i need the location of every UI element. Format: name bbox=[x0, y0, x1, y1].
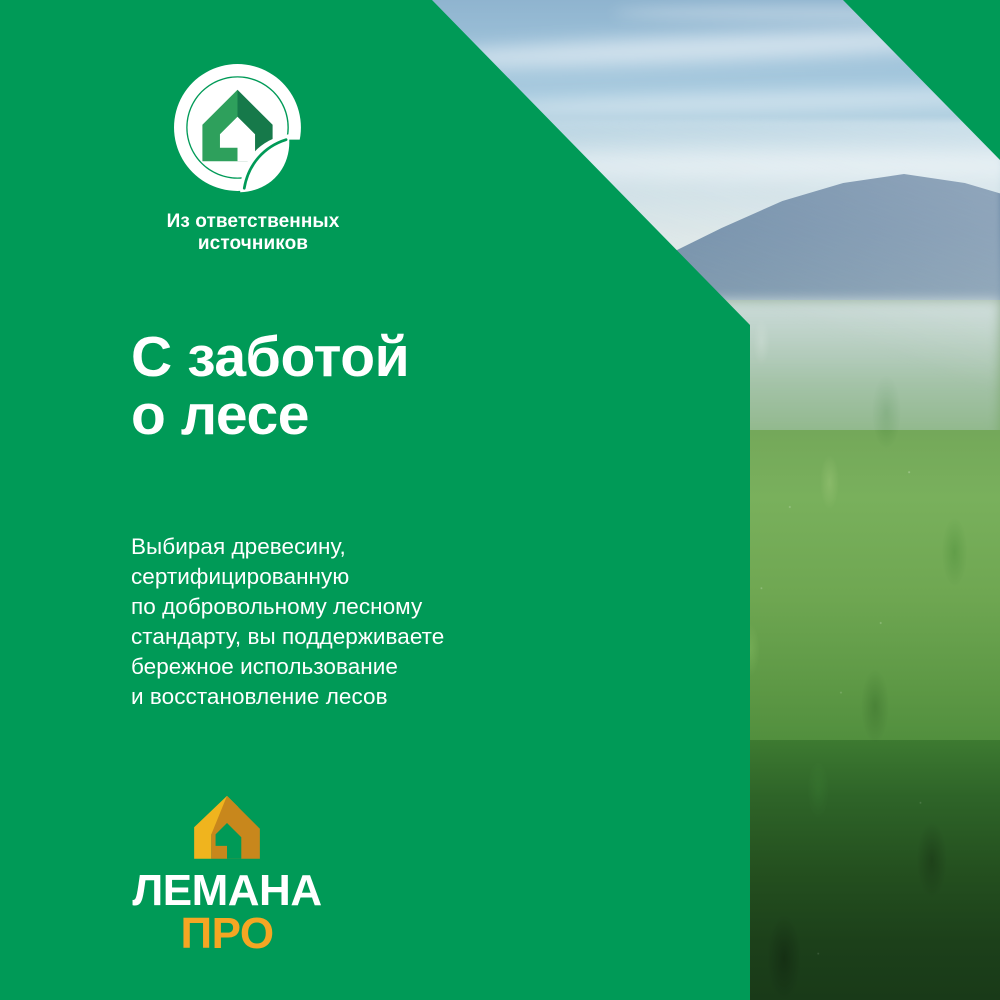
brand-subname: ПРО bbox=[132, 912, 322, 956]
certification-block: Из ответственных источников bbox=[128, 60, 458, 255]
house-roof-icon bbox=[191, 793, 263, 863]
poster-canvas: Из ответственных источников С заботой о … bbox=[0, 0, 1000, 1000]
house-with-leaf-emblem bbox=[170, 60, 305, 195]
certification-caption: Из ответственных источников bbox=[128, 211, 378, 255]
poster-content: Из ответственных источников С заботой о … bbox=[0, 0, 1000, 1000]
brand-logo: ЛЕМАНА ПРО bbox=[132, 793, 322, 956]
page-title: С заботой о лесе bbox=[131, 328, 409, 444]
body-paragraph: Выбирая древесину, сертифицированную по … bbox=[131, 532, 444, 712]
brand-name: ЛЕМАНА bbox=[132, 869, 322, 912]
